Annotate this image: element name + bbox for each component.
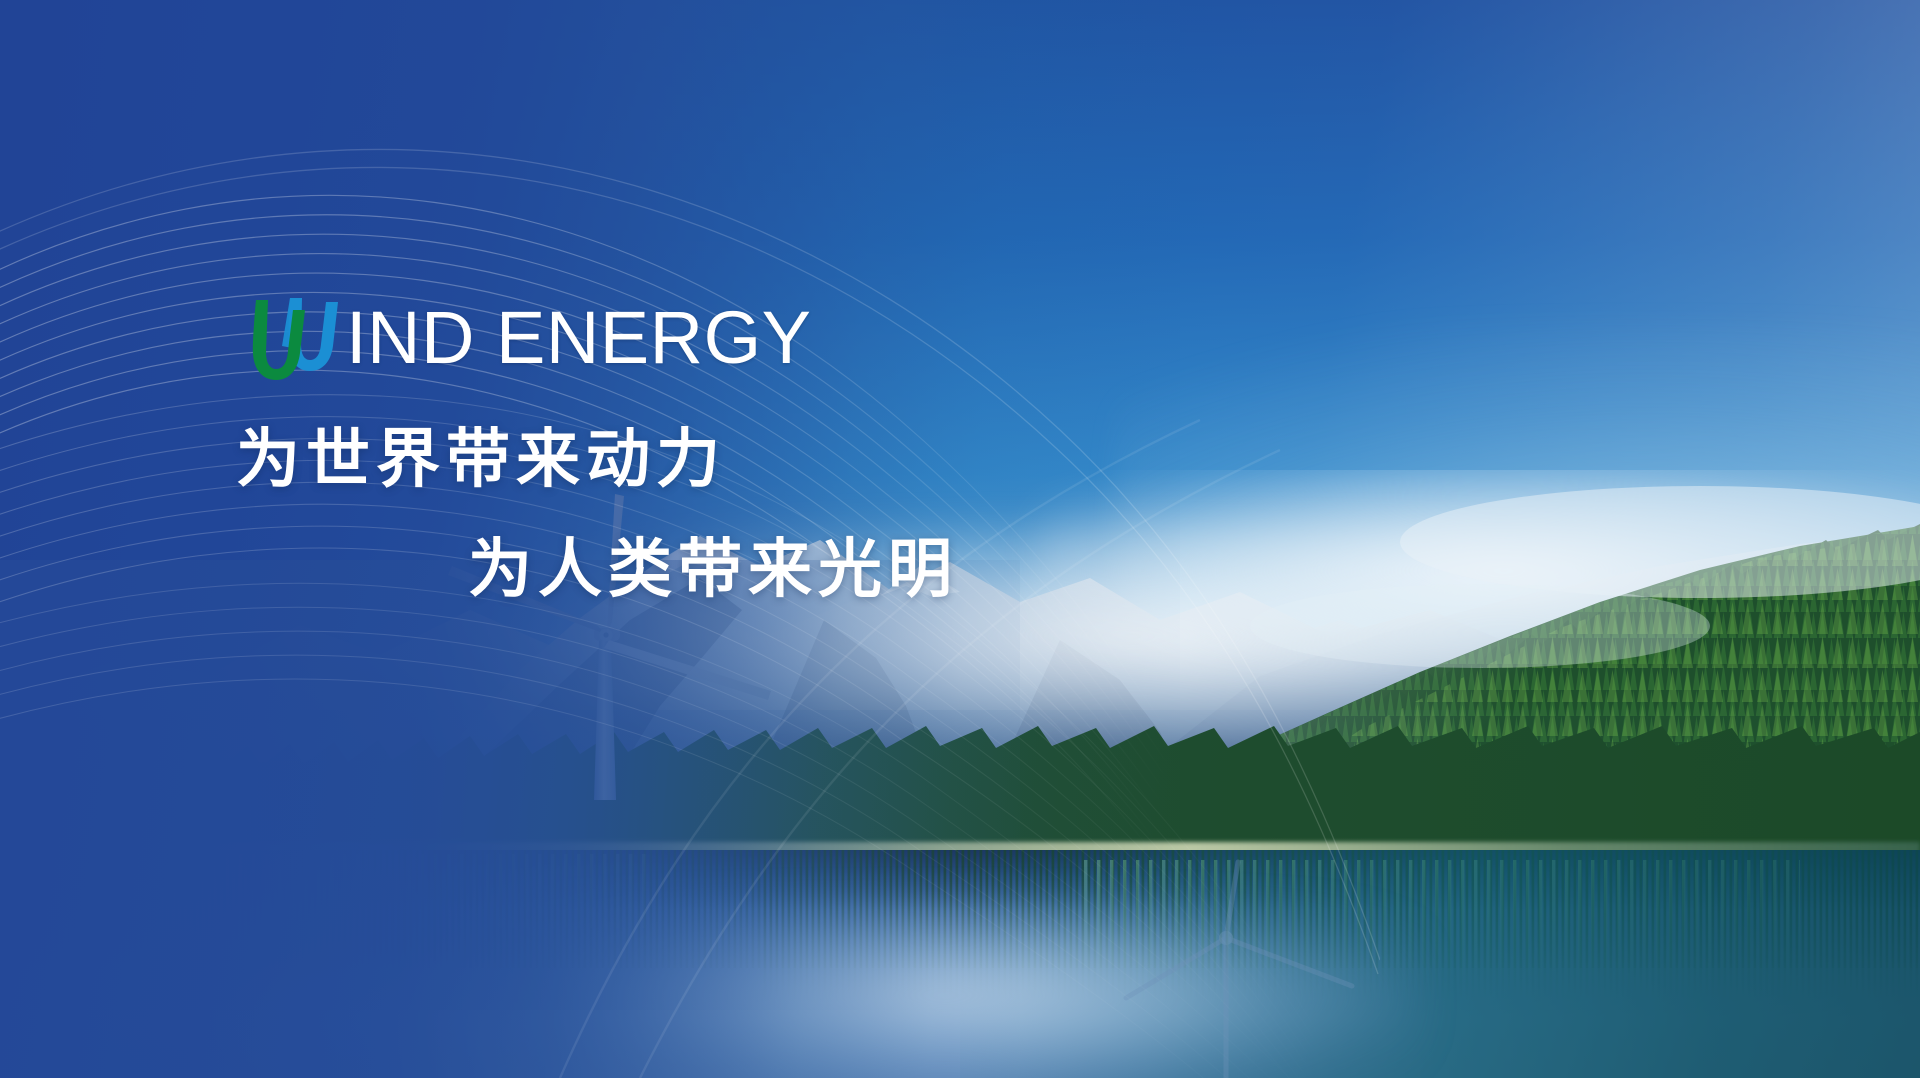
hero-banner: IND ENERGY 为世界带来动力 为人类带来光明 <box>0 0 1920 1078</box>
hero-content: IND ENERGY 为世界带来动力 为人类带来光明 <box>0 0 1920 1078</box>
brand-lockup: IND ENERGY <box>232 292 812 384</box>
wind-w-monogram-icon <box>232 292 350 384</box>
slogan-line-1: 为世界带来动力 <box>236 428 726 492</box>
brand-wordmark: IND ENERGY <box>346 301 812 375</box>
slogan-line-2: 为人类带来光明 <box>468 538 958 602</box>
